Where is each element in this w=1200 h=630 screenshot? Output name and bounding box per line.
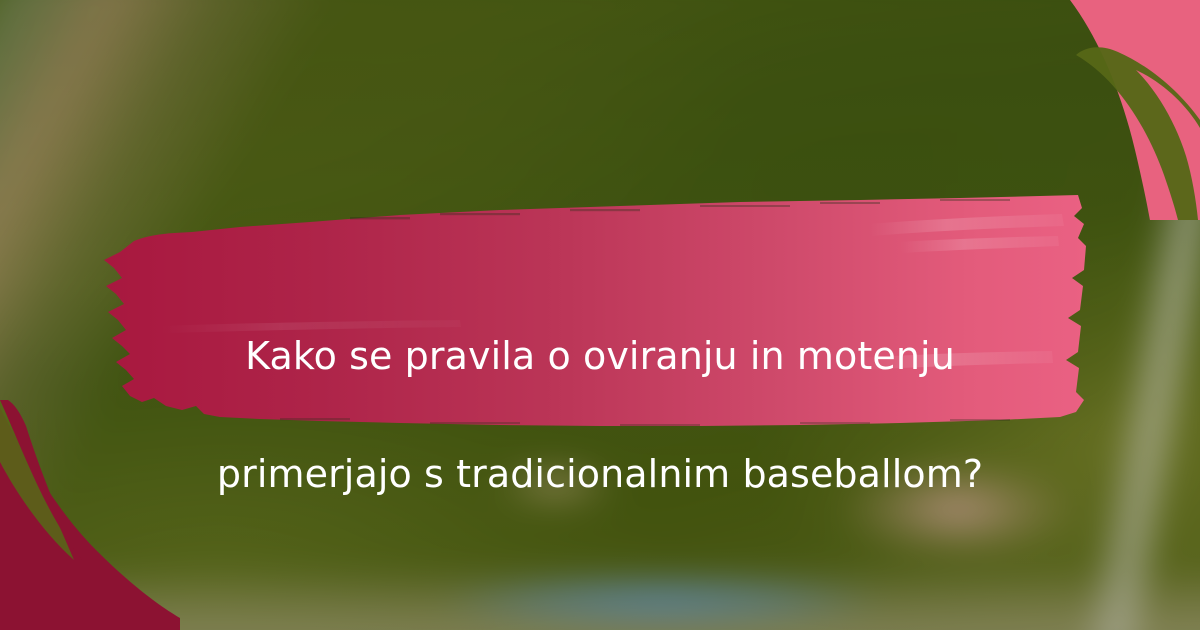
headline-line-2: primerjajo s tradicionalnim baseballom? (130, 445, 1070, 504)
share-card: Kako se pravila o oviranju in motenju pr… (0, 0, 1200, 630)
headline-line-1: Kako se pravila o oviranju in motenju (130, 327, 1070, 386)
headline-text: Kako se pravila o oviranju in motenju pr… (130, 268, 1070, 563)
